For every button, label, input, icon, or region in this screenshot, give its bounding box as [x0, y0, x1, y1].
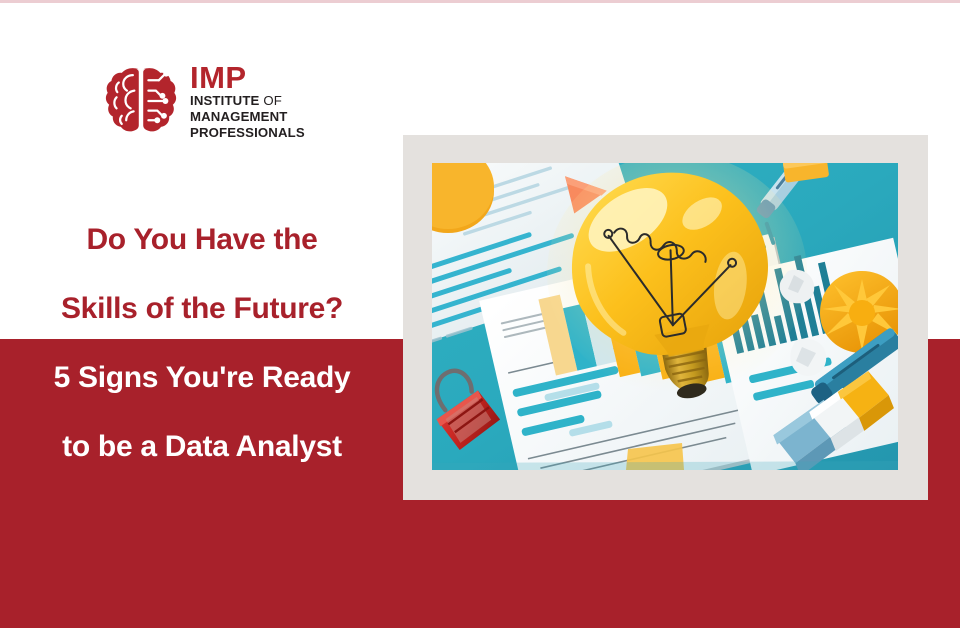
- headline-line-4: to be a Data Analyst: [0, 412, 404, 481]
- headline-block: Do You Have the Skills of the Future? 5 …: [0, 205, 404, 481]
- headline-line-2: Skills of the Future?: [0, 274, 404, 343]
- top-divider-rule: [0, 0, 960, 3]
- logo-acronym: IMP: [190, 62, 305, 94]
- brain-circuit-icon: [104, 64, 178, 138]
- banner-canvas: IMP INSTITUTE OF MANAGEMENT PROFESSIONAL…: [0, 0, 960, 628]
- headline-line-3: 5 Signs You're Ready: [0, 343, 404, 412]
- hero-photo: [432, 163, 898, 470]
- brand-logo[interactable]: IMP INSTITUTE OF MANAGEMENT PROFESSIONAL…: [104, 60, 314, 142]
- photo-card: [403, 135, 928, 500]
- logo-tagline-line1: INSTITUTE: [190, 93, 259, 108]
- logo-tagline-line2: MANAGEMENT: [190, 109, 287, 124]
- logo-wordmark: IMP INSTITUTE OF MANAGEMENT PROFESSIONAL…: [190, 62, 305, 140]
- logo-tagline-line3: PROFESSIONALS: [190, 125, 305, 140]
- headline-line-1: Do You Have the: [0, 205, 404, 274]
- logo-tagline: INSTITUTE OF MANAGEMENT PROFESSIONALS: [190, 93, 305, 140]
- logo-tagline-of: OF: [263, 93, 282, 108]
